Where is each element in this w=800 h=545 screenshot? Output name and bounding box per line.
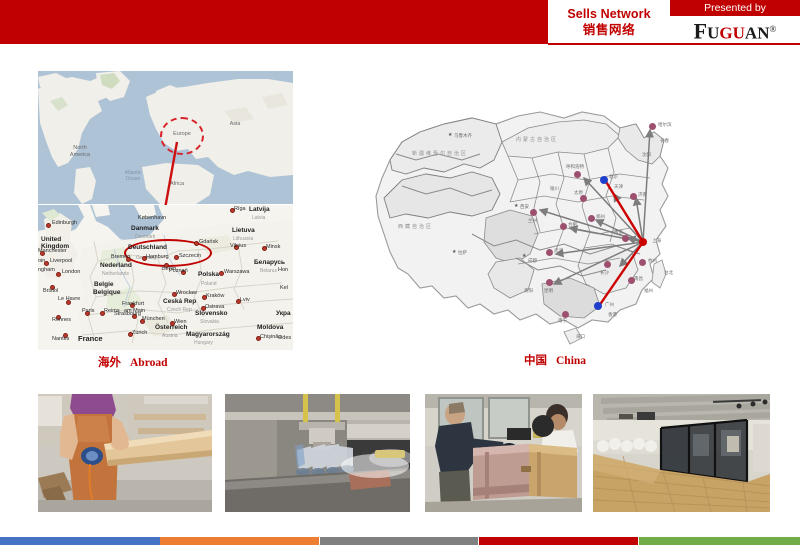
europe-city-dot-london (56, 272, 61, 277)
photo-machine-graphic (225, 394, 410, 512)
brand-letter-u2: U (733, 23, 745, 42)
europe-city-wien: Wien (174, 319, 187, 325)
europe-label-nederland: Nederland (100, 263, 132, 269)
china-city-label-hongkong: 香港 (608, 312, 617, 317)
europe-label-belarus-en: Belarus (260, 268, 277, 274)
europe-label-hungary: Hungary (194, 340, 213, 346)
brand-letter-n: N (757, 23, 769, 42)
china-dot-zhengzhou[interactable] (588, 215, 595, 222)
europe-label-polska: Polska (198, 272, 219, 278)
china-star-lhasa: ★ (452, 250, 456, 255)
page-title-en: Sells Network (567, 7, 650, 22)
china-star-urumqi: ★ (448, 133, 452, 138)
europe-city-ostrava: Ostrava (205, 304, 224, 310)
footer-segment-blue (0, 537, 160, 545)
europe-city-warszawa: Warszawa (224, 269, 249, 275)
europe-label-deutschland: Deutschland (128, 245, 167, 251)
photo-packaging-graphic (425, 394, 582, 512)
china-dot-nanning[interactable] (562, 311, 569, 318)
europe-city-riga: Rīga (234, 206, 246, 212)
europe-city-london: London (62, 269, 80, 275)
europe-city-kel: Kel (280, 285, 288, 291)
photo-office-graphic (593, 394, 770, 512)
caption-abroad-zh: 海外 (98, 357, 121, 369)
europe-label-moldova: Moldova (257, 325, 283, 331)
europe-label-denmark: Denmark (135, 234, 155, 240)
china-dot-guangzhou[interactable] (594, 302, 602, 310)
china-city-label-changchun: 长春 (660, 138, 669, 143)
photo-packaging-station[interactable] (425, 394, 582, 512)
china-city-label-hangzhou: 杭州 (648, 258, 657, 263)
registered-trademark-icon: ® (769, 24, 776, 34)
europe-label-belarus: Беларусь (254, 260, 285, 266)
europe-city-lviv: Lviv (240, 297, 250, 303)
china-city-label-beijing: 北京 (609, 174, 618, 179)
europe-city-vilnius: Vilnius (230, 243, 246, 249)
china-dot-lanzhou[interactable] (530, 209, 537, 216)
brand-wordmark: FUGUAN® (670, 16, 800, 42)
europe-label-austria: Austria (162, 333, 178, 339)
china-province-inner-mongolia: 内蒙古自治区 (516, 136, 558, 143)
photo-vacuum-lifter-machine[interactable] (225, 394, 410, 512)
china-city-label-chengdu: 成都 (528, 258, 537, 263)
china-dot-harbin[interactable] (649, 123, 656, 130)
europe-city-minsk: Minsk (266, 244, 280, 250)
europe-city-wroclaw: Wrocław (176, 290, 197, 296)
europe-city-szczecin: Szczecin (179, 253, 201, 259)
footer-segment-orange (160, 537, 319, 545)
europe-city-poznan: Poznań (169, 268, 188, 274)
europe-city-krakow: Kraków (206, 293, 224, 299)
china-city-label-yinchuan: 银川 (550, 186, 559, 191)
brand-logo: Presented by FUGUAN® (670, 0, 800, 44)
world-label-north-america: NorthAmerica (58, 145, 102, 158)
caption-china-en: China (556, 355, 586, 367)
europe-label-poland: Poland (201, 281, 217, 287)
europe-city-nantes: Nantes (52, 336, 69, 342)
world-label-asia: Asia (220, 121, 250, 128)
europe-city-frankfurt: Frankfurt (122, 301, 144, 307)
europe-label-latvija: Latvija (249, 207, 270, 213)
china-dot-hangzhou[interactable] (639, 259, 646, 266)
europe-city-manchester: Manchester (38, 248, 67, 254)
slide-sells-network: Sells Network 销售网络 Presented by FUGUAN® (0, 0, 800, 545)
china-city-label-lhasa: 拉萨 (458, 250, 467, 255)
china-city-label-nanning: 南宁 (558, 318, 567, 323)
china-city-label-jinan: 济南 (638, 192, 647, 197)
china-city-label-fuzhou: 福州 (644, 288, 653, 293)
header-underline (548, 43, 800, 45)
europe-city-rennes: Rennes (52, 317, 71, 323)
china-city-label-guangzhou: 广州 (605, 302, 614, 307)
europe-label-ukraine: Укра (276, 311, 291, 317)
china-dot-changsha[interactable] (604, 261, 611, 268)
brand-letter-u1: U (707, 23, 719, 42)
photo-craftsman-graphic (38, 394, 212, 512)
europe-city-kobenhavn: København (138, 215, 166, 221)
china-map[interactable]: 新疆维吾尔自治区 西藏自治区 内蒙古自治区 乌鲁木齐 哈尔滨 长春 沈阳 呼和浩… (368, 98, 698, 348)
europe-label-lithuania: Lithuania (233, 236, 253, 242)
china-province-tibet: 西藏自治区 (398, 223, 433, 230)
europe-city-bremen: Bremen (111, 254, 130, 260)
photo-finished-office-interior[interactable] (593, 394, 770, 512)
europe-label-slovakia: Slovakia (200, 319, 219, 325)
china-city-label-guiyang: 贵阳 (524, 288, 533, 293)
europe-label-magyarorszag: Magyarország (186, 332, 230, 338)
china-dot-jinan[interactable] (630, 193, 637, 200)
page-title: Sells Network 销售网络 (548, 1, 670, 43)
presented-by-label: Presented by (670, 0, 800, 16)
footer-segment-gray (320, 537, 478, 545)
caption-china: 中国China (524, 352, 586, 368)
china-dot-hefei[interactable] (560, 223, 567, 230)
europe-label-danmark: Danmark (131, 226, 159, 232)
china-city-label-kunming: 昆明 (544, 288, 553, 293)
europe-city-liverpool: Liverpool (50, 258, 72, 264)
china-dot-beijing[interactable] (600, 176, 608, 184)
china-city-label-harbin: 哈尔滨 (658, 122, 672, 127)
europe-city-dot-edinburgh (46, 223, 51, 228)
china-dot-wuhan[interactable] (546, 249, 553, 256)
europe-city-ingham: ngham (38, 267, 55, 273)
china-city-label-haikou: 海口 (576, 334, 585, 339)
china-dot-nanjing[interactable] (622, 235, 629, 242)
europe-label-slovensko: Slovensko (195, 311, 228, 317)
china-city-label-xian: 西安 (520, 204, 529, 209)
europe-city-edinburgh: Edinburgh (52, 220, 77, 226)
china-city-label-taiyuan: 太原 (574, 190, 583, 195)
china-city-label-urumqi: 乌鲁木齐 (454, 133, 472, 138)
photo-craftsman-sanding-board[interactable] (38, 394, 212, 512)
china-city-label-nanchang: 南昌 (634, 276, 643, 281)
europe-city-am-main: am Main (124, 308, 145, 314)
europe-label-czech-rep: Czech Rep (167, 307, 192, 313)
europe-label-lietuva: Lietuva (232, 228, 255, 234)
page-title-zh: 销售网络 (583, 22, 635, 38)
europe-city-lehavre: Le Havre (58, 296, 80, 302)
china-dot-shanghai-hub[interactable] (639, 238, 647, 246)
china-city-label-shenyang: 沈阳 (642, 152, 651, 157)
china-city-label-lanzhou: 兰州 (528, 218, 537, 223)
europe-city-paris: Paris (82, 308, 95, 314)
china-dot-taiyuan[interactable] (580, 195, 587, 202)
footer-color-bar (0, 537, 800, 545)
europe-label-ceska-rep: Ceská Rep (163, 299, 196, 305)
china-city-label-zhengzhou: 郑州 (596, 214, 605, 219)
china-dot-hohhot[interactable] (574, 171, 581, 178)
footer-segment-red (479, 537, 638, 545)
china-city-label-changsha: 长沙 (600, 270, 609, 275)
china-city-label-hohhot: 呼和浩特 (566, 164, 584, 169)
china-dot-kunming[interactable] (546, 279, 553, 286)
europe-label-latvia: Latvia (252, 215, 265, 221)
europe-city-bristol: Bristol (43, 288, 58, 294)
china-city-label-hefei: 合肥 (568, 222, 577, 227)
china-city-label-taipei: 台北 (664, 270, 673, 275)
china-city-label-shanghai: 上海 (652, 238, 661, 243)
china-city-label-nanjing: 南京 (614, 230, 623, 235)
china-province-xinjiang: 新疆维吾尔自治区 (412, 150, 468, 157)
footer-segment-green (639, 537, 800, 545)
brand-letter-f: F (694, 18, 707, 43)
europe-city-oin: oin (38, 258, 45, 264)
europe-label-france: France (78, 336, 103, 342)
caption-abroad-en: Abroad (130, 357, 168, 369)
caption-china-zh: 中国 (524, 355, 547, 367)
europe-label-netherlands: Netherlands (102, 271, 129, 277)
europe-city-hamburg: Hamburg (146, 254, 169, 260)
caption-abroad: 海外Abroad (98, 354, 168, 370)
europe-city-odesa: Odes (278, 335, 291, 341)
europe-city-munchen: München (142, 316, 165, 322)
china-city-label-tianjin: 天津 (614, 184, 623, 189)
europe-map[interactable]: Deutschland Germany UnitedKingdom Danmar… (38, 205, 293, 350)
europe-city-zurich: Zürich (132, 330, 147, 336)
brand-letter-a: A (745, 23, 757, 42)
europe-label-belgie: Belgie (94, 282, 114, 288)
china-star-chengdu: ★ (522, 254, 526, 259)
europe-label-belgique: Belgique (93, 290, 120, 296)
brand-letter-g: G (719, 23, 732, 42)
europe-city-hon: Hon (278, 267, 288, 273)
china-city-label-wuhan: 武汉 (554, 248, 563, 253)
europe-city-gdansk: Gdańsk (199, 239, 218, 245)
china-star-xian: ★ (514, 204, 518, 209)
